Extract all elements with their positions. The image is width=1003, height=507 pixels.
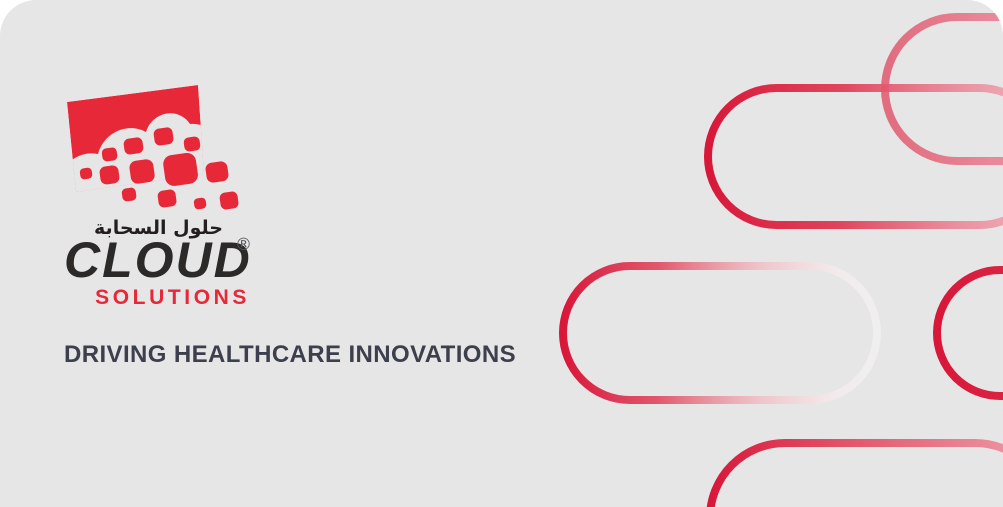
brand-name-row: CLOUD ® <box>64 239 259 285</box>
brand-name-solutions: SOLUTIONS <box>64 287 250 308</box>
decor-pill-middle <box>563 266 877 400</box>
cloud-solutions-logo-mark <box>62 80 262 215</box>
decor-pill-top-small <box>885 17 1003 161</box>
brand-name-cloud: CLOUD <box>64 237 252 283</box>
brand-wordmark: حلول السحابة CLOUD ® SOLUTIONS <box>62 219 322 308</box>
brand-banner: حلول السحابة CLOUD ® SOLUTIONS DRIVING H… <box>0 0 1003 507</box>
decor-pill-bottom <box>710 443 1003 507</box>
decor-pill-right <box>937 270 1003 396</box>
registered-trademark-icon: ® <box>235 237 252 254</box>
banner-tagline: DRIVING HEALTHCARE INNOVATIONS <box>64 341 516 369</box>
decor-pill-top-large <box>708 88 1003 225</box>
brand-logo-block: حلول السحابة CLOUD ® SOLUTIONS <box>62 80 482 308</box>
